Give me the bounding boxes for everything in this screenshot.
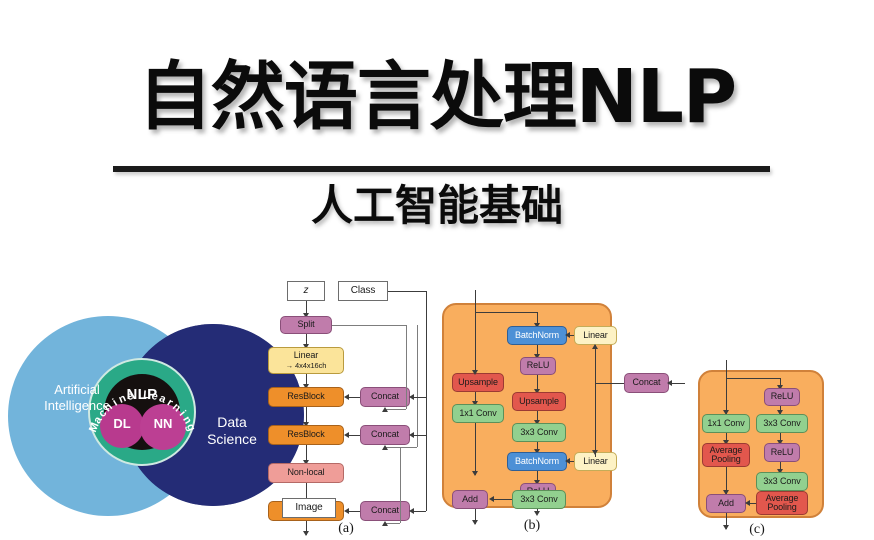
- figure-c-resblock-down: ReLU 1x1 Conv 3x3 Conv Average Pooling R…: [690, 360, 860, 540]
- node-concat-2: Concat: [360, 425, 410, 445]
- node-conv-3x3-a-c: 3x3 Conv: [756, 414, 808, 433]
- node-image: Image: [282, 498, 336, 518]
- arrowhead-concat3-resblock3: [344, 508, 349, 514]
- node-split: Split: [280, 316, 332, 334]
- edge-split-bus-vertical: [406, 325, 407, 409]
- arrowhead-avgpoolmain-add-c: [745, 500, 750, 506]
- title-divider: [113, 166, 770, 172]
- edge-concat-vertical: [595, 345, 596, 457]
- node-upsample-main: Upsample: [512, 392, 566, 411]
- edge-skip-c: [726, 378, 727, 414]
- node-batchnorm-2: BatchNorm: [507, 452, 567, 471]
- arrowhead-add-b: [472, 471, 478, 476]
- edge-class-to-concat3: [412, 511, 426, 512]
- venn-label-nn: NN: [140, 416, 186, 431]
- node-concat-3: Concat: [360, 501, 410, 521]
- node-conv-1x1-c: 1x1 Conv: [702, 414, 750, 433]
- node-conv-1x1: 1x1 Conv: [452, 404, 504, 423]
- node-non-local: Non-local: [268, 463, 344, 483]
- edge-split-bus-vertical-2: [417, 325, 418, 447]
- edge-class-to-concat1: [412, 397, 426, 398]
- node-average-pooling-main: Average Pooling: [756, 491, 808, 515]
- node-batchnorm-1: BatchNorm: [507, 326, 567, 345]
- figure-b-caption: (b): [432, 518, 632, 534]
- edge-input-branch-b: [475, 312, 537, 313]
- edge-concat-to-linears: [595, 383, 624, 384]
- edge-class-to-concat2: [412, 435, 426, 436]
- node-add-c: Add: [706, 494, 746, 513]
- node-resblock-2: ResBlock: [268, 425, 344, 445]
- node-concat-1: Concat: [360, 387, 410, 407]
- ai-venn-diagram: Artificial Intelligence Data Science Mac…: [0, 296, 262, 538]
- edge-input-b: [475, 290, 476, 312]
- node-linear: Linear → 4x4x16ch: [268, 347, 344, 374]
- edge-class-bus: [388, 291, 426, 292]
- arrowhead-linear2-batchnorm2: [565, 458, 570, 464]
- node-relu-1: ReLU: [520, 357, 556, 375]
- arrowhead-split-concat1: [382, 407, 388, 412]
- arrowhead-conv3x3b-add: [489, 496, 494, 502]
- arrowhead-concat1-resblock1: [344, 394, 349, 400]
- arrowhead-conv3x3b-b: [534, 511, 540, 516]
- edge-class-bus-vertical: [426, 291, 427, 511]
- venn-label-dl: DL: [100, 416, 144, 431]
- arrowhead-class-concat3: [409, 508, 414, 514]
- edge-split-bus: [332, 325, 406, 326]
- arrowhead-linear1-batchnorm1: [565, 332, 570, 338]
- node-z: z: [287, 281, 325, 301]
- node-conv-3x3-a: 3x3 Conv: [512, 423, 566, 442]
- edge-conv1x1-add: [475, 423, 476, 475]
- node-add-b: Add: [452, 490, 488, 509]
- arrowhead-concat-linear2: [592, 450, 598, 455]
- node-resblock-1: ResBlock: [268, 387, 344, 407]
- node-relu-1-c: ReLU: [764, 388, 800, 406]
- arrowhead-output-b: [472, 520, 478, 525]
- page-subtitle: 人工智能基础: [0, 182, 874, 230]
- arrowhead-concat-input-b: [667, 380, 672, 386]
- venn-label-data-science: Data Science: [194, 414, 270, 448]
- node-concat-b: Concat: [624, 373, 669, 393]
- node-conv-3x3-b: 3x3 Conv: [512, 490, 566, 509]
- node-relu-2-c: ReLU: [764, 443, 800, 462]
- node-linear-line1: Linear: [294, 351, 318, 361]
- node-average-pooling-skip: Average Pooling: [702, 443, 750, 467]
- arrowhead-split-concat2: [382, 445, 388, 450]
- node-upsample-skip: Upsample: [452, 373, 504, 392]
- venn-label-nlp: NLP: [104, 386, 180, 403]
- node-conv-3x3-b-c: 3x3 Conv: [756, 472, 808, 491]
- node-linear-1: Linear: [574, 326, 617, 345]
- title-banner: 自然语言处理NLP 人工智能基础: [0, 0, 874, 250]
- arrowhead-class-concat2: [409, 432, 414, 438]
- figure-c-caption: (c): [672, 522, 842, 538]
- figure-a-caption: (a): [262, 521, 430, 537]
- node-linear-line2: → 4x4x16ch: [286, 361, 327, 371]
- edge-split-bus-vertical-3: [400, 447, 401, 523]
- arrowhead-skip-upsample: [472, 370, 478, 375]
- node-avgpool-skip-line2: Pooling: [711, 455, 740, 465]
- page-title: 自然语言处理NLP: [0, 58, 874, 136]
- node-class: Class: [338, 281, 388, 301]
- node-avgpool-main-line2: Pooling: [767, 503, 796, 513]
- edge-skip-to-upsample: [475, 312, 476, 373]
- edge-input-c: [726, 360, 727, 378]
- edge-conv3x3b-add: [492, 499, 512, 500]
- edge-input-branch-c: [726, 378, 780, 379]
- arrowhead-concat-linear1: [592, 344, 598, 349]
- arrowhead-class-concat1: [409, 394, 414, 400]
- arrowhead-concat2-resblock2: [344, 432, 349, 438]
